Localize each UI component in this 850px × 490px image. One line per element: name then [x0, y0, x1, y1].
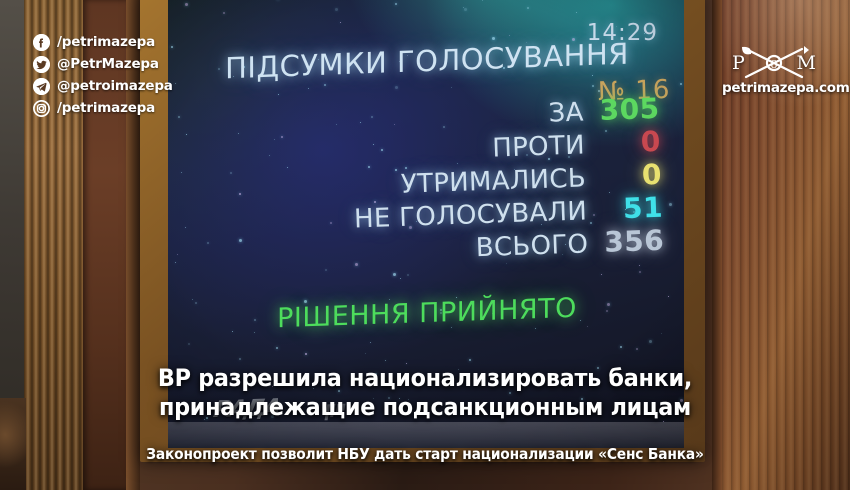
- brand-logo: 8 P M petrimazepa.com: [722, 42, 826, 96]
- logo-initials: P M: [722, 52, 826, 74]
- vote-row-value: 51: [586, 190, 675, 226]
- vote-row-label: ЗА: [548, 97, 584, 128]
- vote-row-value: 305: [583, 91, 672, 127]
- vote-row-label: ВСЬОГО: [475, 229, 588, 263]
- vote-row-value: 0: [585, 157, 674, 193]
- quill-and-sword-icon: 8 P M: [722, 42, 826, 84]
- vote-row-value: 0: [584, 124, 673, 160]
- social-handle-text: /petrimazepa: [57, 100, 155, 116]
- telegram-icon: [33, 78, 50, 95]
- social-link[interactable]: @PetrMazepa: [33, 53, 173, 75]
- logo-letter-m: M: [797, 52, 816, 74]
- logo-letter-p: P: [732, 52, 745, 74]
- social-handle-text: /petrimazepa: [57, 34, 155, 50]
- right-panel-light-glow: [722, 0, 850, 200]
- board-clock: 14:29: [587, 20, 658, 46]
- vote-row-label: ПРОТИ: [492, 130, 586, 163]
- social-handle-text: @petroimazepa: [57, 78, 173, 94]
- facebook-icon: [33, 34, 50, 51]
- vote-row-value: 356: [588, 223, 677, 259]
- instagram-icon: [33, 100, 50, 117]
- social-handles-block: /petrimazepa@PetrMazepa@petroimazepa/pet…: [33, 31, 173, 119]
- social-link[interactable]: /petrimazepa: [33, 97, 173, 119]
- headline-text: ВР разрешила национализировать банки, пр…: [30, 364, 821, 422]
- screenshot-stage: ПІДСУМКИ ГОЛОСУВАННЯ 14:29 № 16 ЗА305ПРО…: [0, 0, 850, 490]
- board-verdict: РІШЕННЯ ПРИЙНЯТО: [192, 290, 662, 337]
- social-handle-text: @PetrMazepa: [57, 56, 159, 72]
- foreground-furniture: [0, 398, 26, 490]
- social-link[interactable]: @petroimazepa: [33, 75, 173, 97]
- vote-results-list: ЗА305ПРОТИ0УТРИМАЛИСЬ0НЕ ГОЛОСУВАЛИ51ВСЬ…: [168, 91, 684, 274]
- twitter-icon: [33, 56, 50, 73]
- subheadline-text: Законопроект позволит НБУ дать старт нац…: [34, 445, 816, 463]
- social-link[interactable]: /petrimazepa: [33, 31, 173, 53]
